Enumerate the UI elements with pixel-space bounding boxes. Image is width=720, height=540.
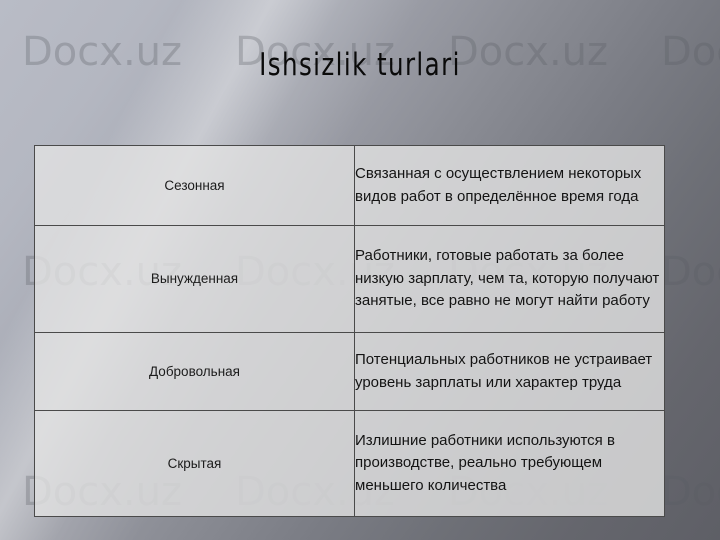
- slide-canvas: Docx.uzDocx.uzDocx.uzDocx.uzDocx.uzDocx.…: [0, 0, 720, 540]
- table-row: Сезонная Связанная с осуществлением неко…: [35, 146, 665, 226]
- table-cell-type: Добровольная: [35, 333, 355, 411]
- page-title: Ishsizlik turlari: [43, 46, 677, 85]
- table-row: Скрытая Излишние работники используются …: [35, 411, 665, 517]
- table-cell-description: Связанная с осуществлением некоторых вид…: [355, 146, 665, 226]
- table-cell-description: Работники, готовые работать за более низ…: [355, 226, 665, 333]
- unemployment-types-table-container: Сезонная Связанная с осуществлением неко…: [34, 145, 665, 516]
- table-cell-description: Излишние работники используются в произв…: [355, 411, 665, 517]
- watermark-text: Docx.uz: [661, 252, 720, 292]
- unemployment-types-table: Сезонная Связанная с осуществлением неко…: [34, 145, 665, 517]
- table-row: Вынужденная Работники, готовые работать …: [35, 226, 665, 333]
- table-row: Добровольная Потенциальных работников не…: [35, 333, 665, 411]
- table-cell-type: Вынужденная: [35, 226, 355, 333]
- table-cell-description: Потенциальных работников не устраивает у…: [355, 333, 665, 411]
- table-body: Сезонная Связанная с осуществлением неко…: [35, 146, 665, 517]
- watermark-text: Docx.uz: [661, 472, 720, 512]
- table-cell-type: Сезонная: [35, 146, 355, 226]
- table-cell-type: Скрытая: [35, 411, 355, 517]
